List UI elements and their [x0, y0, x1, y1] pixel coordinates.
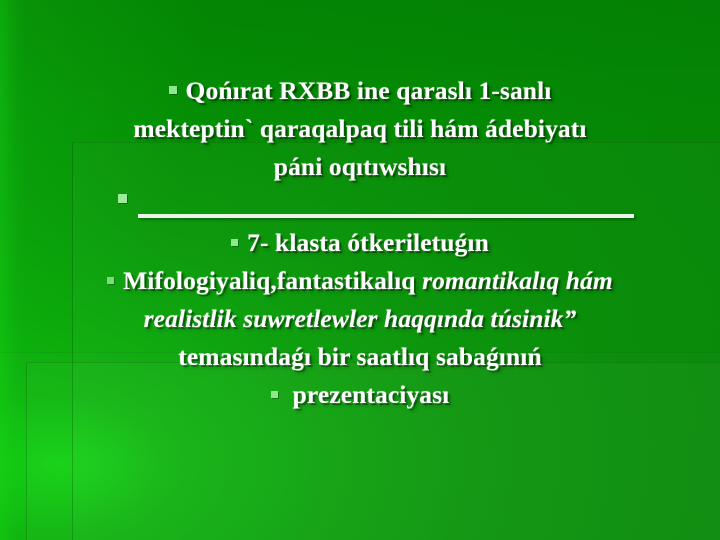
- slide-line-2-text: mekteptin` qaraqalpaq tili hám ádebiyatı: [133, 114, 586, 143]
- slide-line-4-rule-row: [14, 186, 706, 224]
- slide-line-3: páni oqıtıwshısı: [14, 148, 706, 186]
- slide-line-7-text: realistlik suwretlewler haqqında túsinik…: [144, 304, 577, 333]
- slide-line-9-text: prezentaciyası: [287, 380, 450, 409]
- slide-line-3-text: páni oqıtıwshısı: [274, 152, 446, 181]
- slide-line-8-text: temasındaǵı bir saatlıq sabaǵınıń: [178, 342, 541, 371]
- slide-line-1: Qońırat RXBB ine qaraslı 1-sanlı: [14, 72, 706, 110]
- square-bullet-icon: [118, 194, 127, 203]
- slide-line-6-text-italic: romantikalıq hám: [422, 266, 613, 295]
- slide-line-9: prezentaciyası: [14, 376, 706, 414]
- presentation-slide: Qońırat RXBB ine qaraslı 1-sanlı mektept…: [0, 0, 720, 540]
- slide-line-6-text: Mifologiyaliq,fantastikalıq: [123, 266, 422, 295]
- title-text-block[interactable]: Qońırat RXBB ine qaraslı 1-sanlı mektept…: [14, 72, 706, 414]
- slide-line-6: Mifologiyaliq,fantastikalıq romantikalıq…: [14, 262, 706, 300]
- horizontal-rule-divider: [138, 214, 634, 218]
- slide-line-5-text: 7- klasta ótkeriletuǵın: [247, 228, 489, 257]
- slide-line-2: mekteptin` qaraqalpaq tili hám ádebiyatı: [14, 110, 706, 148]
- square-bullet-icon: [231, 239, 238, 246]
- square-bullet-icon: [271, 391, 278, 398]
- slide-line-5: 7- klasta ótkeriletuǵın: [14, 224, 706, 262]
- slide-line-8: temasındaǵı bir saatlıq sabaǵınıń: [14, 338, 706, 376]
- slide-line-7: realistlik suwretlewler haqqında túsinik…: [14, 300, 706, 338]
- square-bullet-icon: [107, 277, 114, 284]
- square-bullet-icon: [169, 86, 177, 94]
- slide-line-1-text: Qońırat RXBB ine qaraslı 1-sanlı: [186, 76, 552, 105]
